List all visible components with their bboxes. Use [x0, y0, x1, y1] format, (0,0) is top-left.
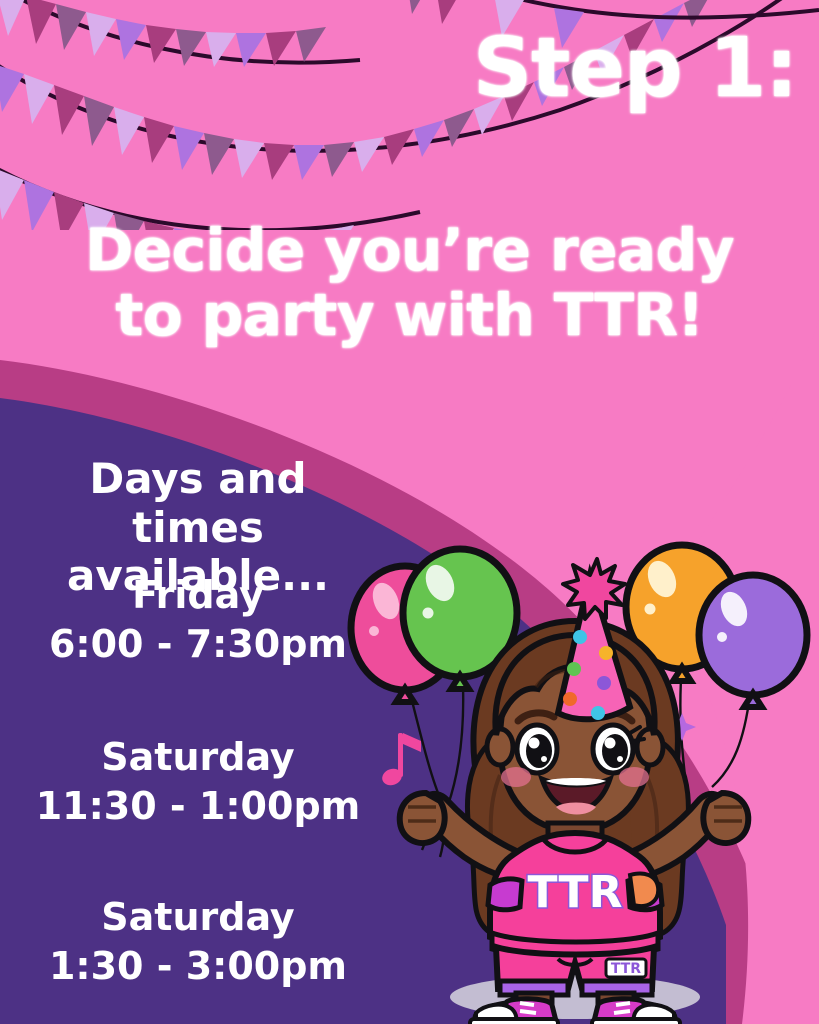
mascot-illustration: TTR TTR — [330, 535, 819, 1024]
schedule-slot-day: Saturday — [18, 734, 378, 782]
step-title: Step 1: — [473, 28, 797, 110]
bunting-string-1 — [0, 0, 360, 67]
headline: Decide you’re ready to party with TTR! — [0, 218, 819, 348]
shirt: TTR — [488, 833, 662, 957]
shirt-logo-text: TTR — [528, 867, 623, 918]
balloon-purple — [699, 575, 807, 707]
schedule-slot-day: Saturday — [18, 894, 378, 942]
schedule-slot-time: 11:30 - 1:00pm — [18, 782, 378, 831]
party-flyer: Step 1: Decide you’re ready to party wit… — [0, 0, 819, 1024]
schedule-slot: Friday 6:00 - 7:30pm — [18, 572, 378, 669]
availability-title-line-1: Days and times — [89, 454, 306, 552]
headline-line-2: to party with TTR! — [0, 283, 819, 348]
shorts-logo-text: TTR — [611, 961, 641, 977]
schedule-slot: Saturday 11:30 - 1:00pm — [18, 734, 378, 831]
schedule-slot-time: 1:30 - 3:00pm — [18, 942, 378, 991]
schedule-slot-time: 6:00 - 7:30pm — [18, 620, 378, 669]
schedule-slot: Saturday 1:30 - 3:00pm — [18, 894, 378, 991]
schedule-slot-day: Friday — [18, 572, 378, 620]
hat-pompom — [563, 559, 625, 619]
bunting-flags-1 — [0, 0, 326, 67]
music-note-left-icon — [380, 733, 421, 788]
headline-line-1: Decide you’re ready — [85, 216, 734, 284]
